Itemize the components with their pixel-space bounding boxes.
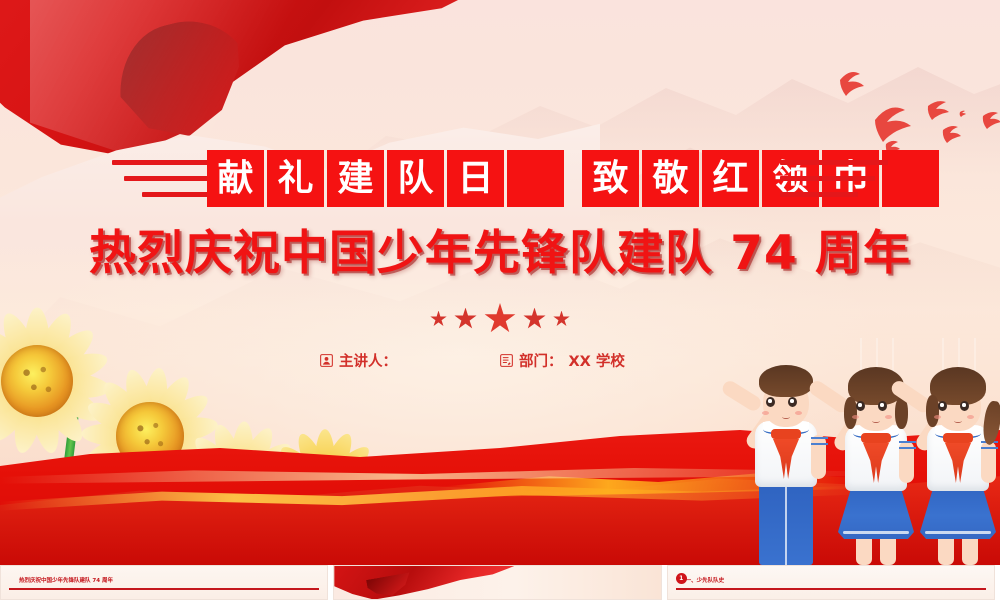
slogan-char-block: 日 [447,150,504,207]
thumbnail-section-one-slide[interactable]: 1 一、少先队队史 [667,565,995,600]
star-divider [0,303,1000,335]
girl-ponytail-saluting [908,338,1000,565]
saluting-young-pioneers-icon [730,338,1000,565]
star-icon [553,311,570,328]
thumbnail-rule [9,588,319,590]
slogan-char-block: 致 [582,150,639,207]
red-ribbon-icon [334,566,514,600]
star-icon [430,311,447,328]
presenter-meta-row: 主讲人： 部门： XX 学校 [0,350,1000,371]
slogan-char-block: 敬 [642,150,699,207]
department-label: 部门： [519,350,563,371]
thumbnail-transition-slide[interactable] [333,565,661,600]
cover-slide-canvas[interactable]: 献 礼 建 队 日 致 敬 红 领 巾 热烈庆祝中国少年先锋队建队 74 周年 [0,0,1000,565]
banner-lines-left [112,156,220,202]
star-icon [454,308,477,331]
boy-saluting [736,338,836,565]
star-icon [484,303,516,335]
flying-birds-icon [820,40,1000,152]
slogan-banner: 献 礼 建 队 日 致 敬 红 领 巾 [0,150,1000,208]
department-value: XX 学校 [569,350,625,371]
thumbnail-cover-slide[interactable]: 热烈庆祝中国少年先锋队建队 74 周年 [0,565,328,600]
slogan-empty-block [507,150,564,207]
slide-thumbnail-strip[interactable]: 热烈庆祝中国少年先锋队建队 74 周年 1 一、少先队队史 [0,565,1000,600]
document-icon [500,354,513,367]
page-title: 热烈庆祝中国少年先锋队建队 74 周年 [0,228,1000,281]
star-icon [523,308,546,331]
thumbnail-rule [676,588,986,590]
department-field[interactable]: 部门： XX 学校 [500,350,680,371]
slogan-char-block: 献 [207,150,264,207]
slogan-char-block: 建 [327,150,384,207]
slogan-char-block: 红 [702,150,759,207]
slogan-block-gap [567,150,579,207]
slogan-empty-block [882,150,939,207]
banner-lines-right [780,156,888,202]
person-icon [320,354,333,367]
presentation-screen: 献 礼 建 队 日 致 敬 红 领 巾 热烈庆祝中国少年先锋队建队 74 周年 [0,0,1000,600]
speaker-field[interactable]: 主讲人： [320,350,500,371]
slogan-char-block: 礼 [267,150,324,207]
speaker-label: 主讲人： [339,350,397,371]
thumbnail-title: 热烈庆祝中国少年先锋队建队 74 周年 [19,576,113,584]
slogan-char-block: 队 [387,150,444,207]
thumbnail-title: 一、少先队队史 [686,576,725,584]
